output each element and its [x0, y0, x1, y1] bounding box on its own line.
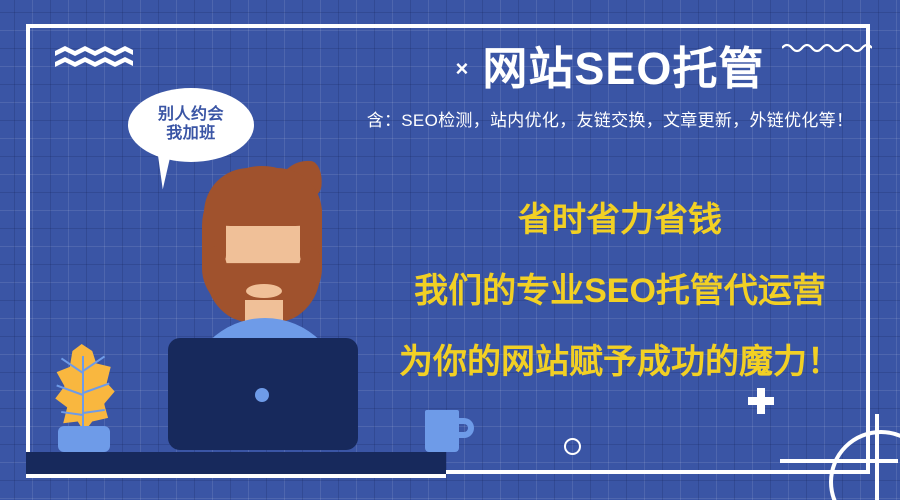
desk-surface — [26, 452, 446, 474]
coffee-mug-icon — [425, 410, 459, 452]
circle-outline-icon — [564, 438, 581, 455]
speech-bubble: 别人约会 我加班 — [128, 88, 254, 162]
laptop-logo-dot — [255, 388, 269, 402]
corner-vertical-line — [875, 414, 879, 500]
seo-promo-banner: 别人约会 我加班 × — [0, 0, 900, 500]
header-block: × 网站SEO托管 含：SEO检测，站内优化，友链交换，文章更新，外链优化等！ — [336, 44, 884, 131]
plant-pot — [58, 426, 110, 452]
slogan-line-2: 我们的专业SEO托管代运营 — [356, 263, 884, 312]
corner-horizontal-line — [780, 459, 898, 463]
page-title: 网站SEO托管 — [482, 44, 764, 94]
title-row: × 网站SEO托管 — [336, 44, 884, 94]
close-icon: × — [456, 58, 469, 80]
wave-lines-icon — [55, 44, 133, 70]
page-subtitle: 含：SEO检测，站内优化，友链交换，文章更新，外链优化等！ — [336, 106, 884, 131]
plus-icon — [748, 388, 774, 414]
speech-bubble-line-1: 别人约会 — [158, 106, 224, 125]
slogan-line-1: 省时省力省钱 — [356, 192, 884, 241]
desk-edge-highlight — [26, 474, 446, 478]
slogan-block: 省时省力省钱 我们的专业SEO托管代运营 为你的网站赋予成功的魔力！ — [356, 192, 884, 383]
potted-plant-icon — [44, 344, 124, 454]
mouth — [246, 284, 282, 298]
speech-bubble-line-2: 我加班 — [166, 125, 216, 144]
slogan-line-3: 为你的网站赋予成功的魔力！ — [356, 334, 884, 383]
